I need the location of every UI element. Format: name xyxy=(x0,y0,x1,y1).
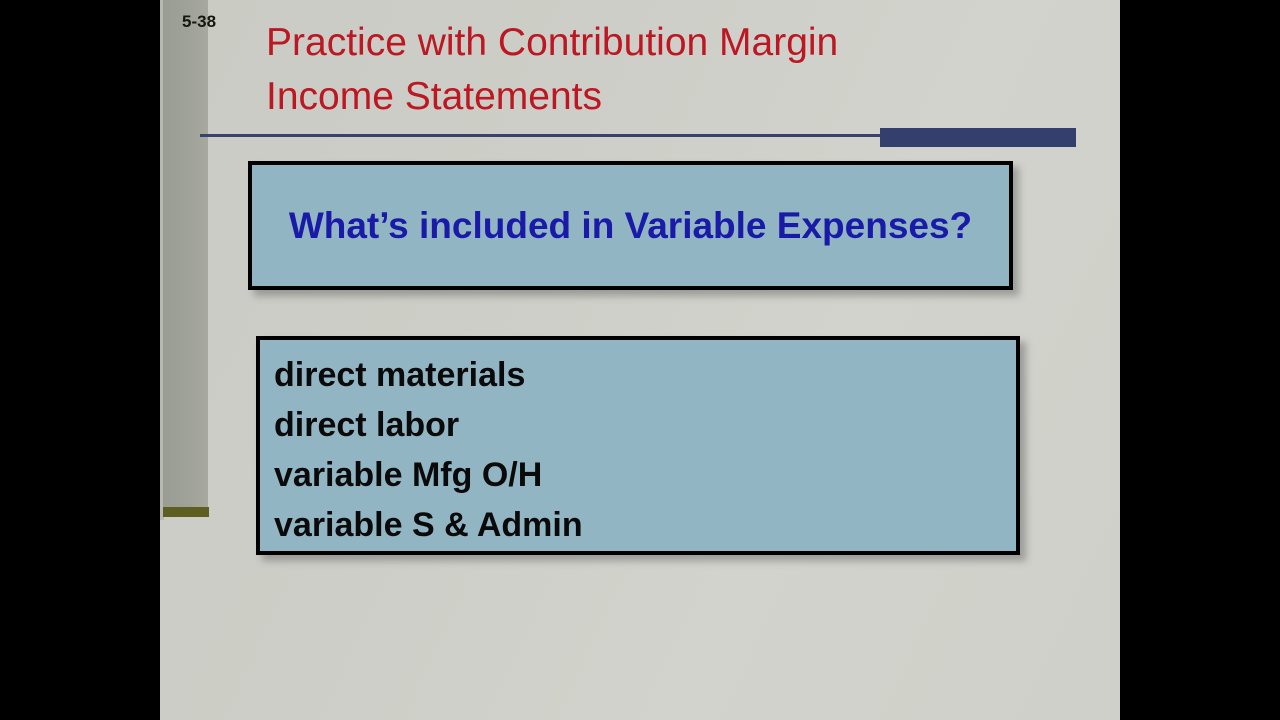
slide-title: Practice with Contribution Margin Income… xyxy=(266,16,986,124)
question-text: What’s included in Variable Expenses? xyxy=(270,198,991,254)
slide-title-line-1: Practice with Contribution Margin xyxy=(266,16,986,70)
question-callout-box: What’s included in Variable Expenses? xyxy=(248,161,1013,290)
list-item: direct materials xyxy=(270,350,1016,400)
list-item: variable S & Admin xyxy=(270,500,1016,550)
slide-canvas: 5-38 Practice with Contribution Margin I… xyxy=(160,0,1120,720)
title-accent-bar xyxy=(880,128,1076,147)
sidebar-decoration-band xyxy=(163,0,208,513)
list-item: direct labor xyxy=(270,400,1016,450)
slide-title-line-2: Income Statements xyxy=(266,70,986,124)
answer-list-box: direct materials direct labor variable M… xyxy=(256,336,1020,555)
list-item: variable Mfg O/H xyxy=(270,450,1016,500)
title-divider-rule xyxy=(200,134,920,137)
screen: 5-38 Practice with Contribution Margin I… xyxy=(0,0,1280,720)
sidebar-band-olive-footer xyxy=(163,507,209,517)
slide-number: 5-38 xyxy=(182,12,216,32)
